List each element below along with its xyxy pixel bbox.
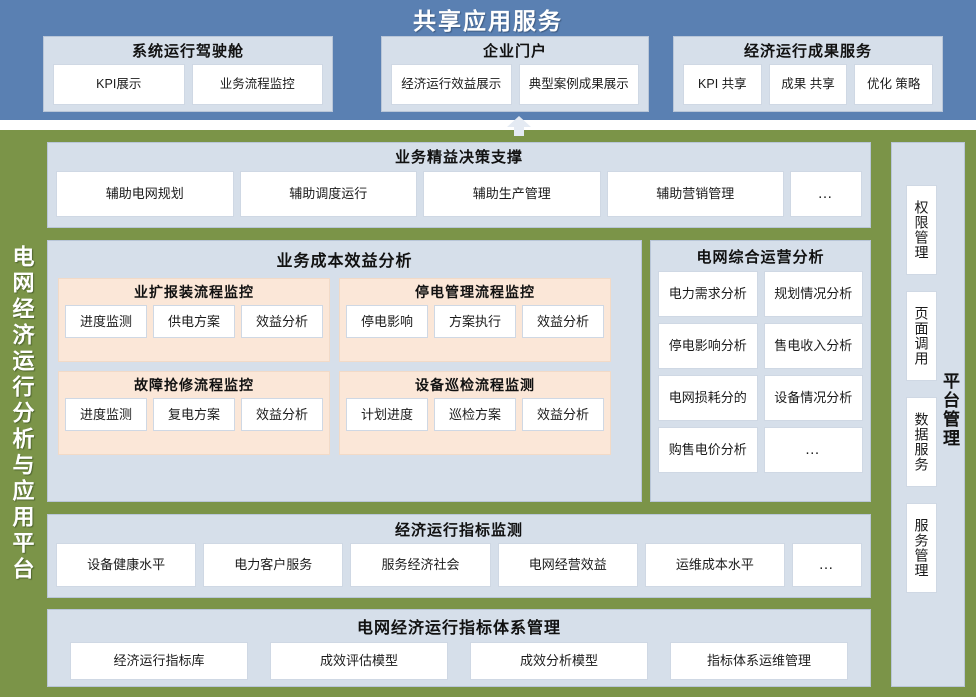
panel-comprehensive-operations-analysis: 电网综合运营分析 电力需求分析 规划情况分析 停电影响分析 售电收入分析 电网损…	[650, 240, 871, 502]
chip-electricity-sales-revenue-analysis[interactable]: 售电收入分析	[764, 323, 864, 369]
chip-om-cost-level[interactable]: 运维成本水平	[645, 543, 785, 587]
chip-result-sharing[interactable]: 成果 共享	[769, 64, 848, 105]
platform-management-column: 权限管理 页面调用 数据服务 服务管理 平台管理	[891, 142, 965, 687]
chip-equipment-status-analysis[interactable]: 设备情况分析	[764, 375, 864, 421]
panel-indicator-monitoring-items: 设备健康水平 电力客户服务 服务经济社会 电网经营效益 运维成本水平 …	[48, 540, 870, 587]
panel-decision-support-items: 辅助电网规划 辅助调度运行 辅助生产管理 辅助营销管理 …	[48, 167, 870, 217]
card-economic-result-service[interactable]: 经济运行成果服务 KPI 共享 成果 共享 优化 策略	[673, 36, 943, 112]
chip-equipment-health-level[interactable]: 设备健康水平	[56, 543, 196, 587]
chip-production-management-support[interactable]: 辅助生产管理	[423, 171, 601, 217]
chip-grid-loss-analysis[interactable]: 电网损耗分的	[658, 375, 758, 421]
subcard-fault-repair-monitoring[interactable]: 故障抢修流程监控 进度监测 复电方案 效益分析	[58, 371, 330, 455]
panel-indicator-system-management-title: 电网经济运行指标体系管理	[48, 610, 870, 638]
chip-inspection-plan[interactable]: 巡检方案	[434, 398, 516, 431]
pm-item-permission-management[interactable]: 权限管理	[906, 185, 937, 275]
card-economic-result-service-items: KPI 共享 成果 共享 优化 策略	[674, 61, 942, 105]
subcard-outage-management-monitoring-title: 停电管理流程监控	[346, 282, 604, 305]
pm-item-data-service-label: 数据服务	[912, 412, 932, 472]
chip-indicator-system-om-management[interactable]: 指标体系运维管理	[670, 642, 848, 680]
chip-benefit-analysis-expansion[interactable]: 效益分析	[241, 305, 323, 338]
panel-economic-indicator-monitoring: 经济运行指标监测 设备健康水平 电力客户服务 服务经济社会 电网经营效益 运维成…	[47, 514, 871, 598]
chip-effect-evaluation-model[interactable]: 成效评估模型	[270, 642, 448, 680]
card-economic-result-service-title: 经济运行成果服务	[674, 37, 942, 61]
platform-management-title: 平台管理	[937, 335, 962, 485]
upward-flow-arrow-icon	[504, 116, 534, 136]
pm-item-permission-management-label: 权限管理	[912, 200, 932, 260]
chip-typical-case-result-display[interactable]: 典型案例成果展示	[519, 64, 640, 105]
card-enterprise-portal-items: 经济运行效益展示 典型案例成果展示	[382, 61, 648, 105]
pm-item-page-invocation[interactable]: 页面调用	[906, 291, 937, 381]
chip-decision-support-more[interactable]: …	[790, 171, 862, 217]
chip-outage-impact[interactable]: 停电影响	[346, 305, 428, 338]
pm-item-service-management[interactable]: 服务管理	[906, 503, 937, 593]
card-system-cockpit-items: KPI展示 业务流程监控	[44, 61, 332, 105]
card-system-cockpit-title: 系统运行驾驶舱	[44, 37, 332, 61]
pm-item-page-invocation-label: 页面调用	[912, 306, 932, 366]
chip-marketing-management-support[interactable]: 辅助营销管理	[607, 171, 785, 217]
panel-cost-benefit-subcards: 业扩报装流程监控 进度监测 供电方案 效益分析 停电管理流程监控 停电影响 方案…	[48, 271, 641, 455]
platform-name-sidebar: 电网经济运行分析与应用平台	[0, 130, 43, 697]
chip-benefit-analysis-outage[interactable]: 效益分析	[522, 305, 604, 338]
chip-kpi-sharing[interactable]: KPI 共享	[683, 64, 762, 105]
chip-effect-analysis-model[interactable]: 成效分析模型	[470, 642, 648, 680]
chip-purchase-sale-price-analysis[interactable]: 购售电价分析	[658, 427, 758, 473]
chip-dispatch-operation-support[interactable]: 辅助调度运行	[240, 171, 418, 217]
subcard-outage-management-monitoring[interactable]: 停电管理流程监控 停电影响 方案执行 效益分析	[339, 278, 611, 362]
panel-decision-support: 业务精益决策支撑 辅助电网规划 辅助调度运行 辅助生产管理 辅助营销管理 …	[47, 142, 871, 228]
chip-benefit-analysis-fault[interactable]: 效益分析	[241, 398, 323, 431]
pm-item-data-service[interactable]: 数据服务	[906, 397, 937, 487]
panel-indicator-system-management: 电网经济运行指标体系管理 经济运行指标库 成效评估模型 成效分析模型 指标体系运…	[47, 609, 871, 687]
chip-optimization-strategy[interactable]: 优化 策略	[854, 64, 933, 105]
architecture-diagram: 共享应用服务 系统运行驾驶舱 KPI展示 业务流程监控 企业门户 经济运行效益展…	[0, 0, 976, 697]
chip-plan-execution[interactable]: 方案执行	[434, 305, 516, 338]
subcard-fault-repair-items: 进度监测 复电方案 效益分析	[65, 398, 323, 431]
shared-application-services-band: 共享应用服务 系统运行驾驶舱 KPI展示 业务流程监控 企业门户 经济运行效益展…	[0, 0, 976, 120]
card-system-cockpit[interactable]: 系统运行驾驶舱 KPI展示 业务流程监控	[43, 36, 333, 112]
chip-planning-status-analysis[interactable]: 规划情况分析	[764, 271, 864, 317]
chip-progress-monitoring-expansion[interactable]: 进度监测	[65, 305, 147, 338]
subcard-equipment-inspection-monitoring[interactable]: 设备巡检流程监测 计划进度 巡检方案 效益分析	[339, 371, 611, 455]
chip-grid-planning-support[interactable]: 辅助电网规划	[56, 171, 234, 217]
panel-cost-benefit-analysis-title: 业务成本效益分析	[48, 241, 641, 271]
panel-comprehensive-operations-analysis-title: 电网综合运营分析	[651, 241, 870, 267]
chip-business-process-monitoring[interactable]: 业务流程监控	[192, 64, 324, 105]
subcard-fault-repair-monitoring-title: 故障抢修流程监控	[65, 375, 323, 398]
chip-kpi-display[interactable]: KPI展示	[53, 64, 185, 105]
chip-power-demand-analysis[interactable]: 电力需求分析	[658, 271, 758, 317]
subcard-expansion-items: 进度监测 供电方案 效益分析	[65, 305, 323, 338]
chip-serving-economy-society[interactable]: 服务经济社会	[350, 543, 490, 587]
panel-operations-items: 电力需求分析 规划情况分析 停电影响分析 售电收入分析 电网损耗分的 设备情况分…	[651, 267, 870, 473]
panel-economic-indicator-monitoring-title: 经济运行指标监测	[48, 515, 870, 540]
chip-power-customer-service[interactable]: 电力客户服务	[203, 543, 343, 587]
chip-grid-operating-benefit[interactable]: 电网经营效益	[498, 543, 638, 587]
panel-decision-support-title: 业务精益决策支撑	[48, 143, 870, 167]
panel-cost-benefit-analysis: 业务成本效益分析 业扩报装流程监控 进度监测 供电方案 效益分析 停电管理流程监…	[47, 240, 642, 502]
subcard-equipment-inspection-monitoring-title: 设备巡检流程监测	[346, 375, 604, 398]
chip-benefit-analysis-inspection[interactable]: 效益分析	[522, 398, 604, 431]
subcard-inspection-items: 计划进度 巡检方案 效益分析	[346, 398, 604, 431]
card-enterprise-portal[interactable]: 企业门户 经济运行效益展示 典型案例成果展示	[381, 36, 649, 112]
pm-item-service-management-label: 服务管理	[912, 518, 932, 578]
chip-operations-more[interactable]: …	[764, 427, 864, 473]
platform-management-title-label: 平台管理	[937, 372, 962, 448]
shared-application-services-title: 共享应用服务	[0, 2, 976, 36]
chip-economic-indicator-library[interactable]: 经济运行指标库	[70, 642, 248, 680]
chip-outage-impact-analysis[interactable]: 停电影响分析	[658, 323, 758, 369]
chip-plan-progress[interactable]: 计划进度	[346, 398, 428, 431]
card-enterprise-portal-title: 企业门户	[382, 37, 648, 61]
platform-name-label: 电网经济运行分析与应用平台	[6, 245, 38, 583]
chip-economic-benefit-display[interactable]: 经济运行效益展示	[391, 64, 512, 105]
chip-progress-monitoring-fault[interactable]: 进度监测	[65, 398, 147, 431]
panel-indicator-system-items: 经济运行指标库 成效评估模型 成效分析模型 指标体系运维管理	[48, 638, 870, 680]
chip-power-restoration-plan[interactable]: 复电方案	[153, 398, 235, 431]
chip-power-supply-plan[interactable]: 供电方案	[153, 305, 235, 338]
subcard-expansion-installation-monitoring[interactable]: 业扩报装流程监控 进度监测 供电方案 效益分析	[58, 278, 330, 362]
subcard-outage-items: 停电影响 方案执行 效益分析	[346, 305, 604, 338]
chip-indicator-monitoring-more[interactable]: …	[792, 543, 862, 587]
subcard-expansion-installation-monitoring-title: 业扩报装流程监控	[65, 282, 323, 305]
